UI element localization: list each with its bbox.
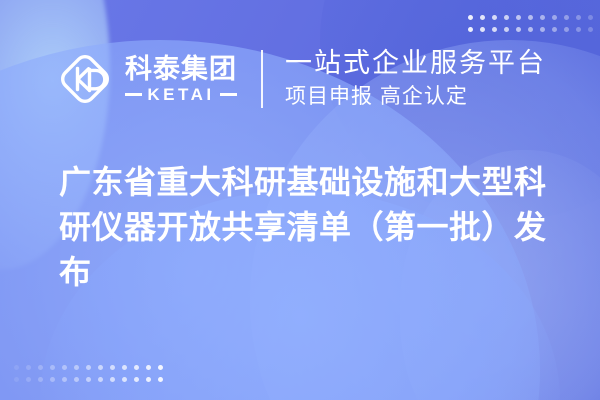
header-divider [261,50,263,108]
dot-grid-top-right [468,15,600,32]
brand-name-cn: 科泰集团 [125,55,237,83]
tagline-block: 一站式企业服务平台 项目申报 高企认定 [285,47,546,110]
dot [110,365,115,370]
dot [528,27,533,32]
dot [158,377,163,382]
dot [134,377,139,382]
dot [468,15,473,20]
brand-name-en-row: KETAI [125,86,237,103]
dot [74,365,79,370]
brand-lockup: 科泰集团 KETAI [58,52,237,106]
dot [50,377,55,382]
dot [516,27,521,32]
dot-grid-bottom-left [14,365,163,382]
dot-row [14,365,163,370]
dot [98,365,103,370]
dot [158,365,163,370]
dot [38,365,43,370]
dot [540,27,545,32]
dot [146,365,151,370]
dot [588,27,593,32]
brand-rule-right [220,93,237,96]
dot [74,377,79,382]
dot [576,27,581,32]
dot [26,365,31,370]
dot [552,15,557,20]
dot [122,365,127,370]
brand-name-en: KETAI [147,86,214,103]
banner-headline: 广东省重大科研基础设施和大型科研仪器开放共享清单（第一批）发布 [59,160,559,295]
dot [564,15,569,20]
dot [38,377,43,382]
promo-banner: 科泰集团 KETAI 一站式企业服务平台 项目申报 高企认定 广东省重大科研基础… [0,0,600,400]
dot [110,377,115,382]
dot [504,15,509,20]
dot [504,27,509,32]
dot [98,377,103,382]
dot [552,27,557,32]
dot [516,15,521,20]
dot [480,15,485,20]
dot [50,365,55,370]
tagline-main: 一站式企业服务平台 [285,47,546,81]
dot [468,27,473,32]
dot [528,15,533,20]
dot [588,15,593,20]
dot [564,27,569,32]
dot [62,377,67,382]
dot [62,365,67,370]
dot [480,27,485,32]
dot [540,15,545,20]
dot [492,15,497,20]
dot [14,365,19,370]
dot-row [14,377,163,382]
dot [576,15,581,20]
dot [146,377,151,382]
ketai-diamond-monogram-icon [58,52,112,106]
tagline-sub: 项目申报 高企认定 [285,83,546,110]
brand-rule-left [125,93,142,96]
dot [26,377,31,382]
dot [134,365,139,370]
dot [86,365,91,370]
dot [14,377,19,382]
dot-row [468,27,600,32]
dot [86,377,91,382]
brand-wordmark: 科泰集团 KETAI [125,55,237,103]
dot [122,377,127,382]
dot [492,27,497,32]
banner-header: 科泰集团 KETAI 一站式企业服务平台 项目申报 高企认定 [0,40,600,118]
dot-row [468,15,600,20]
